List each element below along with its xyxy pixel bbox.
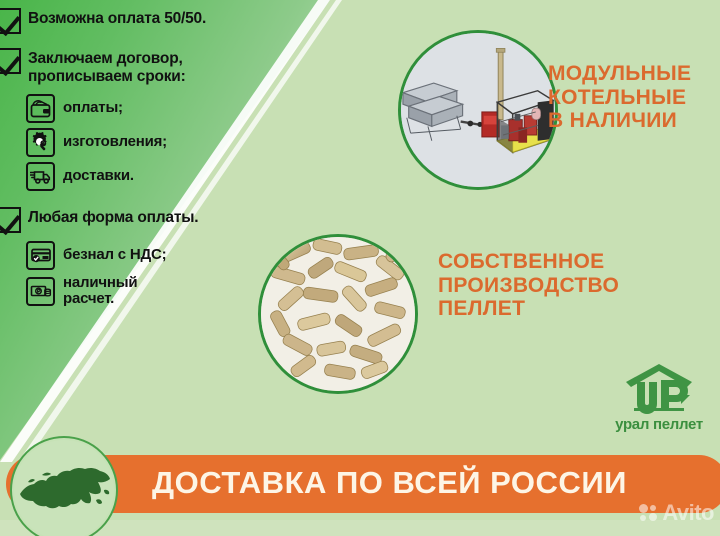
avito-watermark: Avito (639, 500, 714, 526)
sub-feature-item: оплаты; (26, 94, 300, 123)
avito-watermark-text: Avito (662, 500, 714, 526)
sub-feature-label: доставки. (63, 168, 134, 184)
sub-feature-item: доставки. (26, 162, 300, 191)
feature-label: Возможна оплата 50/50. (28, 8, 206, 28)
credit-card-check-icon (26, 241, 55, 270)
heading-modular-boilers: МОДУЛЬНЫЕ КОТЕЛЬНЫЕ В НАЛИЧИИ (548, 62, 691, 133)
sub-feature-label: наличный расчет. (63, 275, 137, 307)
feature-label: Любая форма оплаты. (28, 207, 198, 227)
truck-icon (26, 162, 55, 191)
sub-feature-label: оплаты; (63, 100, 123, 116)
feature-item: Возможна оплата 50/50. (0, 8, 300, 34)
checkbox-checked-icon (0, 8, 21, 34)
checkbox-checked-icon (0, 48, 21, 74)
up-house-monogram-icon (624, 362, 694, 414)
promo-banner: Возможна оплата 50/50. Заключаем договор… (0, 0, 720, 536)
feature-item: Заключаем договор, прописываем сроки: (0, 48, 300, 86)
feature-list: Возможна оплата 50/50. Заключаем договор… (0, 8, 300, 312)
checkbox-checked-icon (0, 207, 21, 233)
sub-feature-label: безнал с НДС; (63, 247, 166, 263)
sub-feature-item: изготовления; (26, 128, 300, 157)
russia-map-icon (10, 436, 118, 536)
feature-label: Заключаем договор, прописываем сроки: (28, 48, 186, 86)
brand-logo: урал пеллет (600, 362, 718, 440)
feature-item: Любая форма оплаты. (0, 207, 300, 233)
brand-logo-text: урал пеллет (600, 416, 718, 433)
avito-dots-icon (639, 504, 659, 522)
wood-pellets-photo (258, 234, 418, 394)
sub-feature-label: изготовления; (63, 134, 167, 150)
bottom-edge-strip (0, 520, 720, 536)
gear-wrench-icon (26, 128, 55, 157)
cash-ruble-icon (26, 277, 55, 306)
wallet-icon (26, 94, 55, 123)
delivery-banner-text: ДОСТАВКА ПО ВСЕЙ РОССИИ (152, 465, 627, 501)
modular-boiler-photo (398, 30, 558, 190)
sub-feature-item: безнал с НДС; (26, 241, 300, 270)
heading-pellet-production: СОБСТВЕННОЕ ПРОИЗВОДСТВО ПЕЛЛЕТ (438, 250, 619, 321)
